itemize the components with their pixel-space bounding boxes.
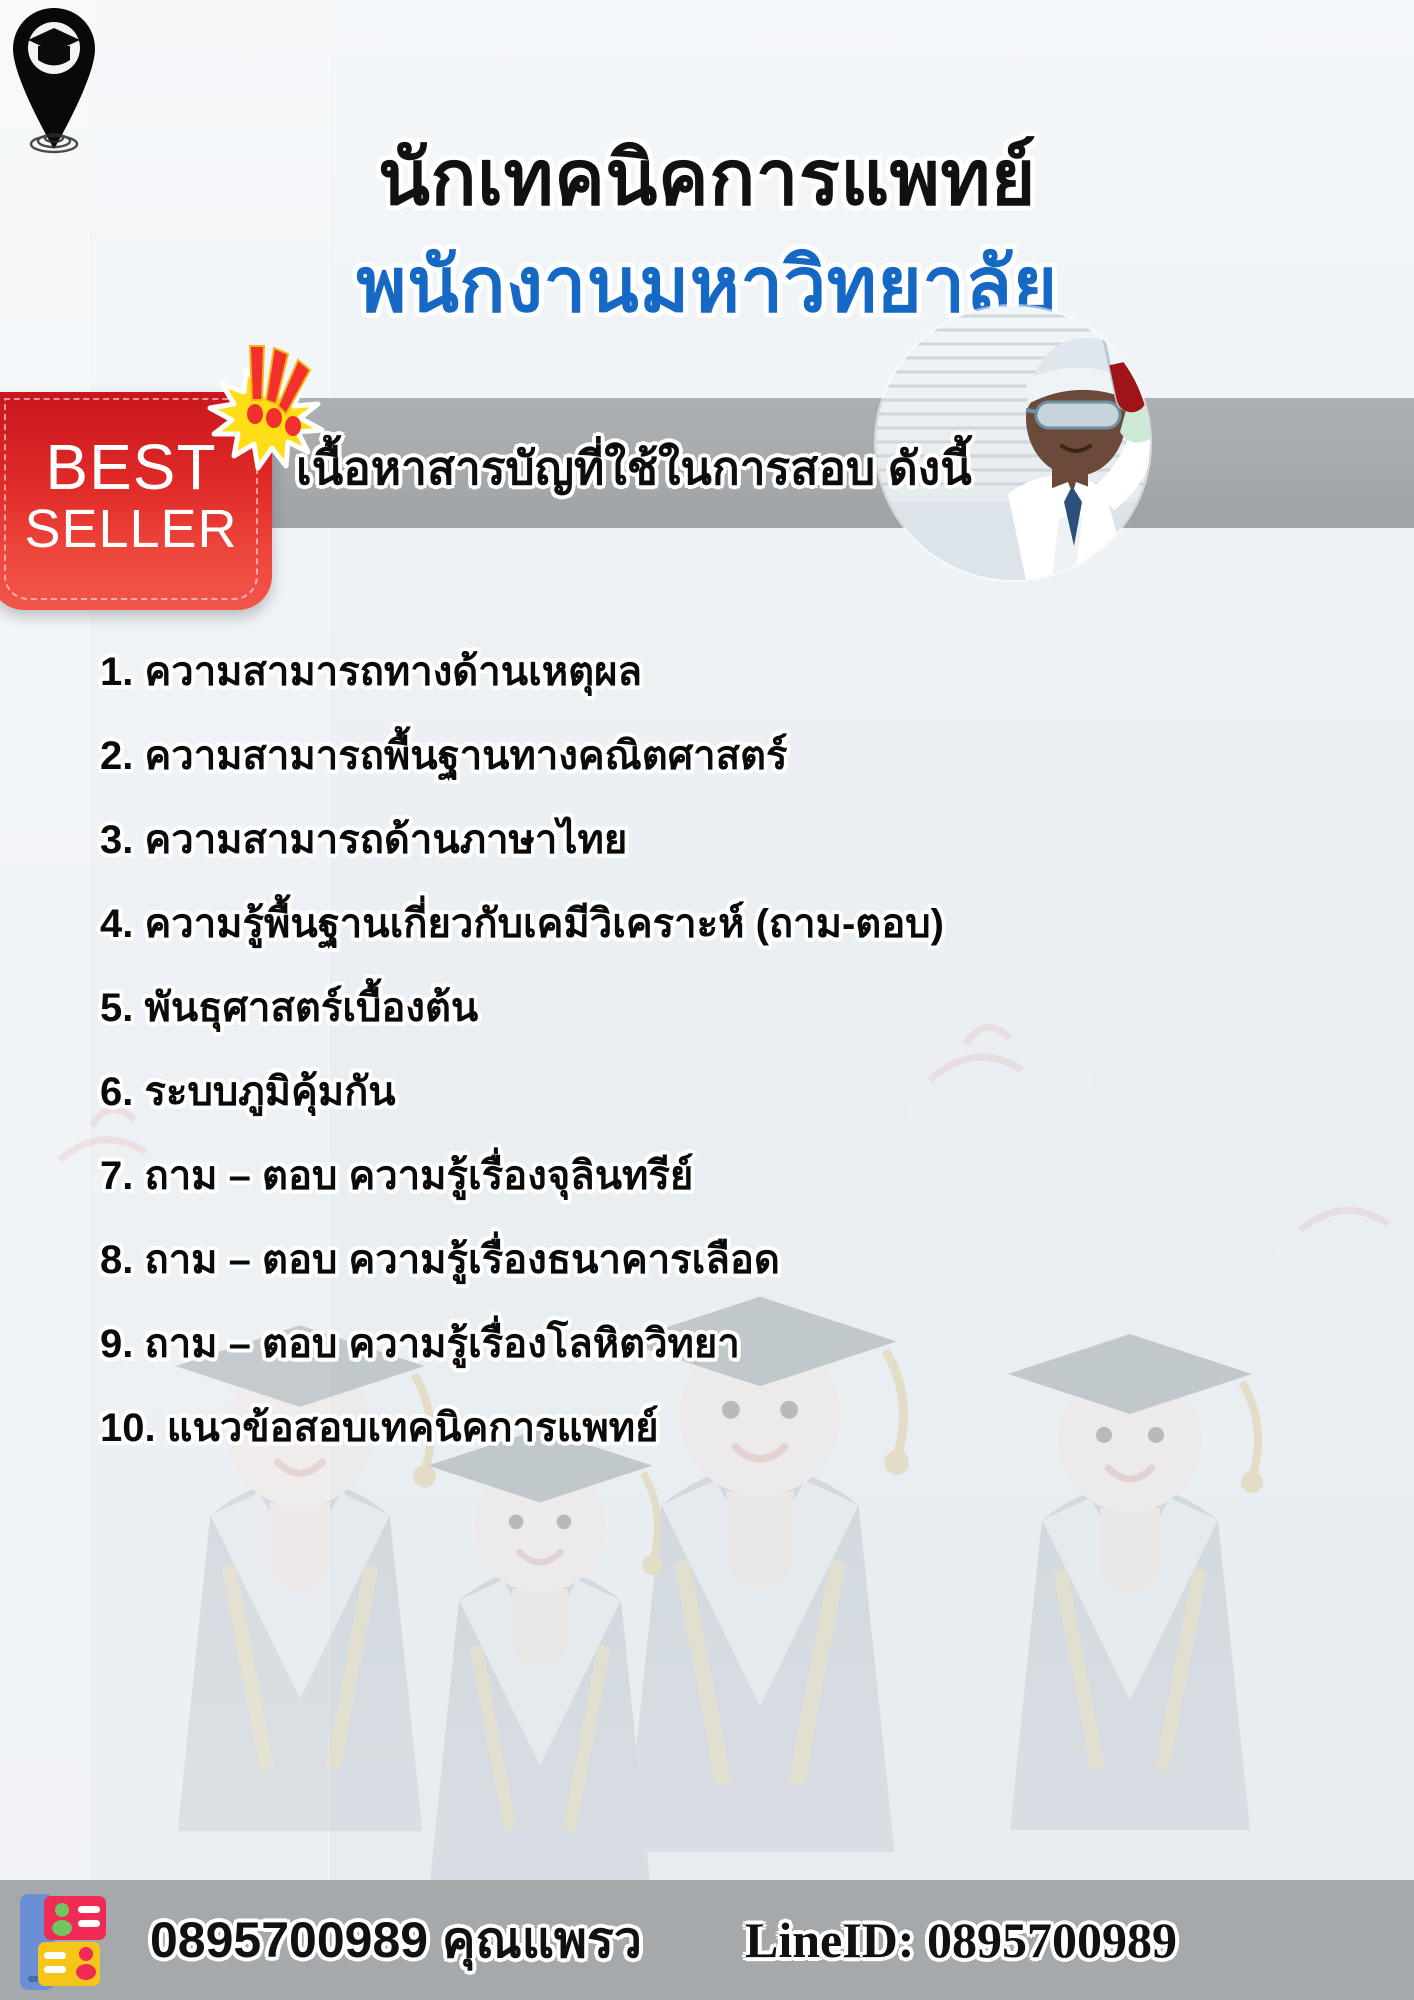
starburst-exclamation-icon bbox=[206, 340, 336, 475]
contacts-card-icon bbox=[18, 1892, 126, 1992]
contents-list: 1. ความสามารถทางด้านเหตุผล 2. ความสามารถ… bbox=[100, 630, 1200, 1470]
contact-phone: 0895700989 คุณแพรว bbox=[150, 1900, 642, 1980]
list-item: 4. ความรู้พื้นฐานเกี่ยวกับเคมีวิเคราะห์ … bbox=[100, 882, 1200, 966]
contact-line-id: LineID: 0895700989 bbox=[745, 1900, 1177, 1980]
list-item: 3. ความสามารถด้านภาษาไทย bbox=[100, 798, 1200, 882]
contact-footer-bar: 0895700989 คุณแพรว LineID: 0895700989 bbox=[0, 1880, 1414, 2000]
list-item: 7. ถาม – ตอบ ความรู้เรื่องจุลินทรีย์ bbox=[100, 1134, 1200, 1218]
page-title-secondary: พนักงานมหาวิทยาลัย bbox=[0, 225, 1414, 345]
list-item: 9. ถาม – ตอบ ความรู้เรื่องโลหิตวิทยา bbox=[100, 1302, 1200, 1386]
list-item: 5. พันธุศาสตร์เบื้องต้น bbox=[100, 966, 1200, 1050]
list-item: 6. ระบบภูมิคุ้มกัน bbox=[100, 1050, 1200, 1134]
contents-banner-heading: เนื้อหาสารบัญที่ใช้ในการสอบ ดังนี้ bbox=[296, 432, 972, 505]
poster-canvas: นักเทคนิคการแพทย์ พนักงานมหาวิทยาลัย bbox=[0, 0, 1414, 2000]
list-item: 10. แนวข้อสอบเทคนิคการแพทย์ bbox=[100, 1386, 1200, 1470]
badge-label-seller: SELLER bbox=[0, 498, 272, 560]
list-item: 8. ถาม – ตอบ ความรู้เรื่องธนาคารเลือด bbox=[100, 1218, 1200, 1302]
page-title-primary: นักเทคนิคการแพทย์ bbox=[0, 118, 1414, 238]
list-item: 1. ความสามารถทางด้านเหตุผล bbox=[100, 630, 1200, 714]
list-item: 2. ความสามารถพื้นฐานทางคณิตศาสตร์ bbox=[100, 714, 1200, 798]
